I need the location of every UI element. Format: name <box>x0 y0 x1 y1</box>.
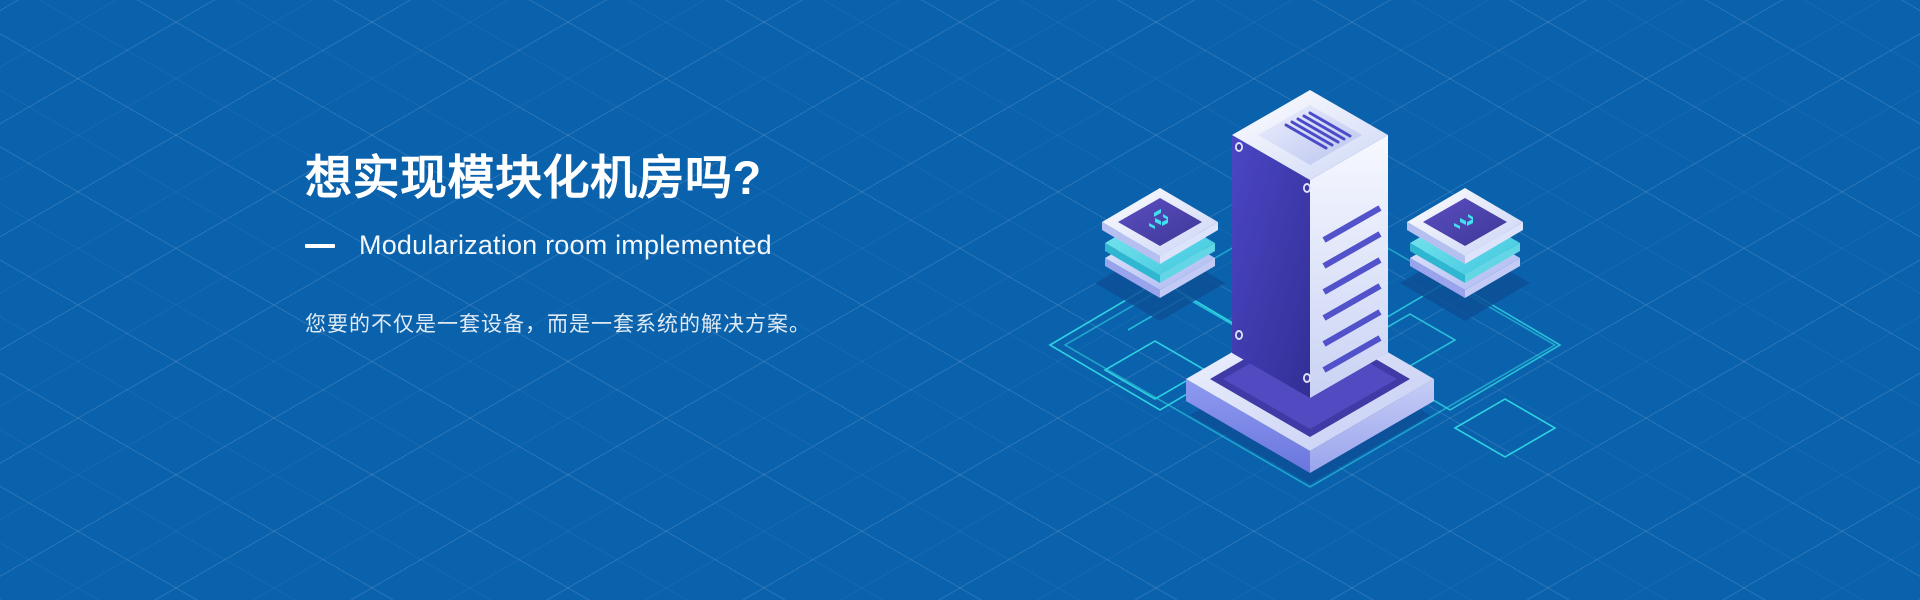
isometric-server-svg <box>1010 40 1710 560</box>
subheadline-row: Modularization room implemented <box>305 229 1065 261</box>
description-text: 您要的不仅是一套设备，而是一套系统的解决方案。 <box>305 308 1065 342</box>
page-title: 想实现模块化机房吗? <box>305 150 1065 205</box>
hero-banner: 想实现模块化机房吗? Modularization room implement… <box>0 0 1920 600</box>
server-illustration <box>1010 40 1710 560</box>
subtitle: Modularization room implemented <box>359 229 772 261</box>
dash-rule-icon <box>305 244 335 248</box>
hero-copy: 想实现模块化机房吗? Modularization room implement… <box>305 150 1065 362</box>
server-tower <box>1232 90 1388 398</box>
